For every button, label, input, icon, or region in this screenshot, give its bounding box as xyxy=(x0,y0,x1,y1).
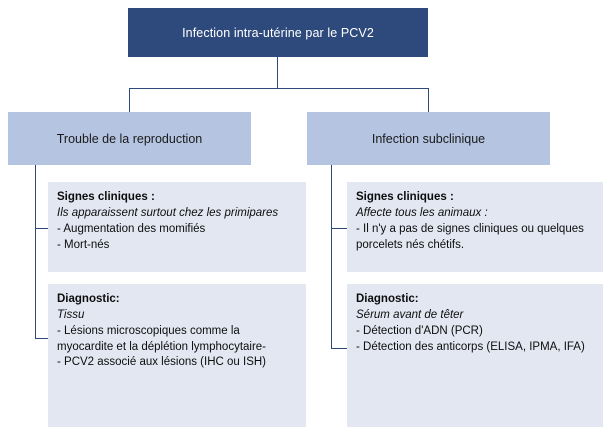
panel-right-diagnostic: Diagnostic: Sérum avant de têter - Détec… xyxy=(347,284,603,427)
connector-to-left-branch xyxy=(129,88,130,112)
diagram-canvas: Infection intra-utérine par le PCV2 Trou… xyxy=(0,0,610,437)
panel-subtitle: Ils apparaissent surtout chez les primip… xyxy=(57,206,297,221)
panel-title: Signes cliniques : xyxy=(356,190,594,205)
panel-title: Signes cliniques : xyxy=(57,190,297,205)
branch-node-label: Infection subclinique xyxy=(372,132,485,146)
panel-left-diagnostic: Diagnostic: Tissu - Lésions microscopiqu… xyxy=(48,284,306,427)
connector-to-right-branch xyxy=(428,88,429,112)
connector-root-trunk xyxy=(277,57,278,88)
connector-right-stub-top xyxy=(331,228,347,229)
panel-subtitle: Affecte tous les animaux : xyxy=(356,206,594,221)
branch-node-infection-subclinique: Infection subclinique xyxy=(307,112,550,165)
panel-item: - Il n'y a pas de signes cliniques ou qu… xyxy=(356,222,594,253)
panel-right-signes-cliniques: Signes cliniques : Affecte tous les anim… xyxy=(347,182,603,272)
connector-right-spine xyxy=(331,165,332,348)
branch-node-label: Trouble de la reproduction xyxy=(57,132,202,146)
panel-left-signes-cliniques: Signes cliniques : Ils apparaissent surt… xyxy=(48,182,306,272)
panel-item: - Augmentation des momifiés xyxy=(57,222,297,238)
panel-title: Diagnostic: xyxy=(356,292,594,307)
panel-item: - Détection d'ADN (PCR) xyxy=(356,324,594,340)
connector-split-bar xyxy=(129,88,428,89)
branch-node-trouble-reproduction: Trouble de la reproduction xyxy=(8,112,251,165)
connector-left-spine xyxy=(35,165,36,339)
connector-left-stub-bottom xyxy=(35,338,48,339)
root-node-label: Infection intra-utérine par le PCV2 xyxy=(182,26,374,40)
panel-item: - PCV2 associé aux lésions (IHC ou ISH) xyxy=(57,355,297,371)
panel-subtitle: Sérum avant de têter xyxy=(356,308,594,323)
panel-item: - Détection des anticorps (ELISA, IPMA, … xyxy=(356,340,594,356)
connector-left-stub-top xyxy=(35,228,48,229)
panel-title: Diagnostic: xyxy=(57,292,297,307)
connector-right-stub-bottom xyxy=(331,348,347,349)
panel-item: - Mort-nés xyxy=(57,238,297,254)
panel-subtitle: Tissu xyxy=(57,308,297,323)
root-node-pcv2: Infection intra-utérine par le PCV2 xyxy=(128,8,428,57)
panel-item: - Lésions microscopiques comme la myocar… xyxy=(57,324,297,355)
